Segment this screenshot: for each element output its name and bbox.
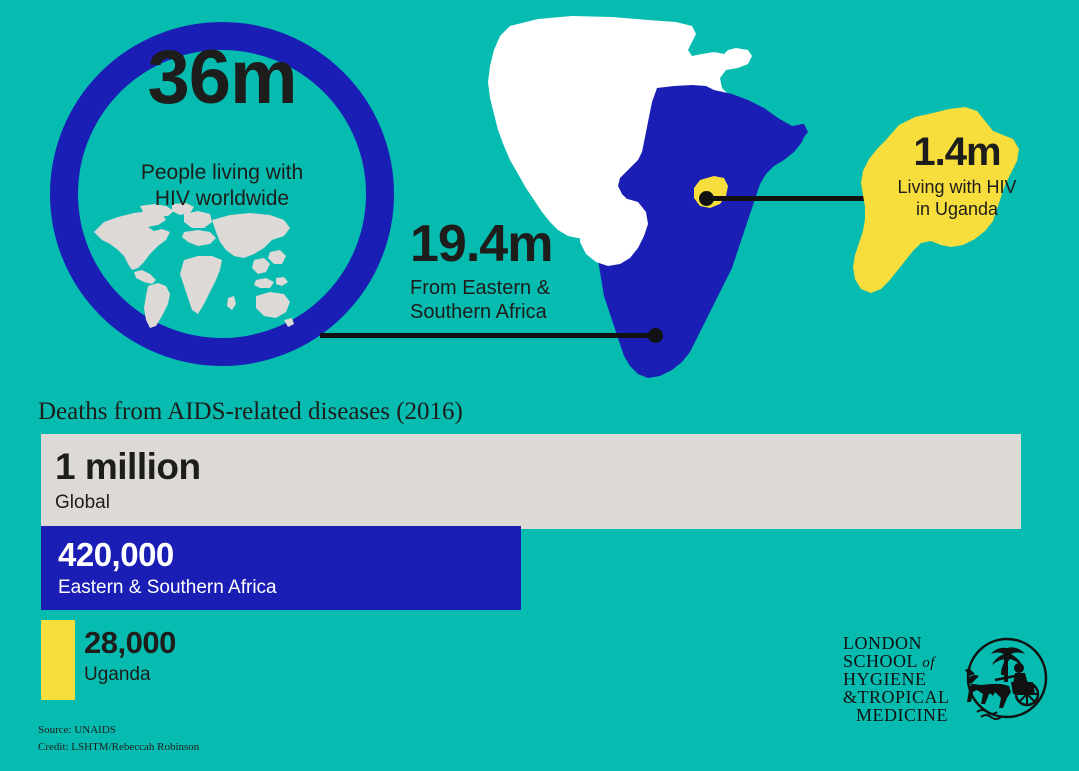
lshtm-logo: LONDON SCHOOL of HYGIENE &TROPICAL MEDIC… [843,632,1048,724]
footer-source: Source: UNAIDS [38,722,199,739]
footer-credit: Credit: LSHTM/Rebeccah Robinson [38,739,199,756]
uganda-stat-label: 1.4m Living with HIV in Uganda [872,132,1042,221]
uganda-stat-value: 1.4m [872,132,1042,172]
global-stat-caption-line2: HIV worldwide [50,186,394,212]
logo-crest-icon [965,639,1046,719]
bar-esa-value: 420,000 [58,538,277,571]
infographic-canvas: 36m People living with HIV worldwide 19.… [0,0,1079,771]
esa-stat-caption-line2: Southern Africa [410,300,670,324]
bar-uganda-label: 28,000 Uganda [84,627,176,686]
esa-connector-line [320,333,658,338]
esa-stat-caption-line1: From Eastern & [410,276,670,300]
footer-credits: Source: UNAIDS Credit: LSHTM/Rebeccah Ro… [38,722,199,755]
bar-uganda-value: 28,000 [84,627,176,658]
world-map-icon [88,198,300,330]
uganda-stat-caption-line1: Living with HIV [872,176,1042,198]
bar-uganda-caption: Uganda [84,665,176,686]
logo-line-hygiene: HYGIENE [843,669,926,689]
logo-line-london: LONDON [843,633,922,653]
esa-connector-dot [648,328,663,343]
bar-esa-caption: Eastern & Southern Africa [58,578,277,599]
logo-line-medicine: MEDICINE [856,705,948,724]
esa-stat-label: 19.4m From Eastern & Southern Africa [410,218,670,325]
bar-global-value: 1 million [55,448,201,485]
bar-global-label: 1 million Global [55,448,201,514]
esa-stat-caption: From Eastern & Southern Africa [410,276,670,325]
uganda-stat-caption: Living with HIV in Uganda [872,176,1042,221]
bar-global-caption: Global [55,493,201,514]
global-stat-circle: 36m People living with HIV worldwide [50,22,394,366]
global-stat-caption-line1: People living with [50,160,394,186]
africa-map [452,8,842,400]
bar-eastern-southern-africa-label: 420,000 Eastern & Southern Africa [58,538,277,599]
logo-line-tropical: &TROPICAL [843,687,950,707]
logo-line-school: SCHOOL of [843,651,936,671]
bar-uganda [41,620,75,700]
esa-stat-value: 19.4m [410,218,670,270]
deaths-section-title: Deaths from AIDS-related diseases (2016) [38,398,463,426]
global-stat-caption: People living with HIV worldwide [50,160,394,211]
uganda-stat-caption-line2: in Uganda [872,198,1042,220]
global-stat-value: 36m [50,40,394,116]
uganda-connector-dot [699,191,714,206]
